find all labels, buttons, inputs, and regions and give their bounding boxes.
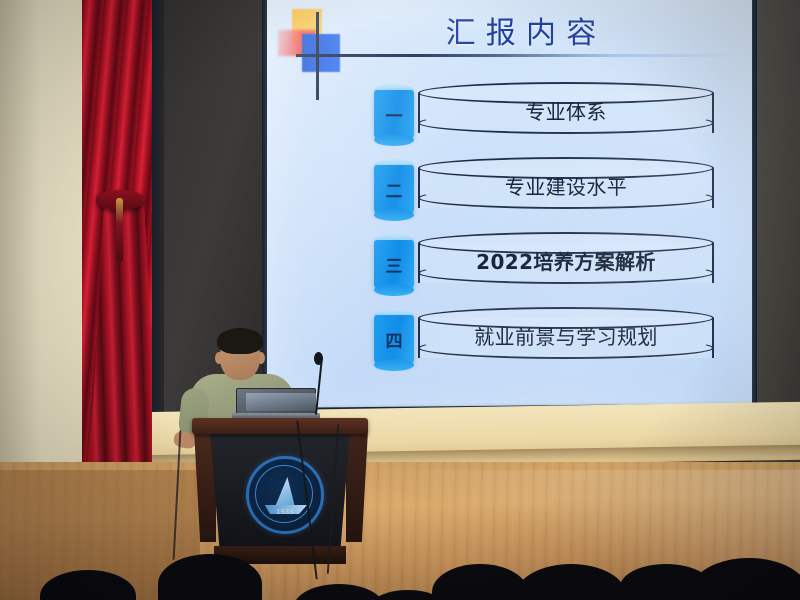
number-label-3: 三 xyxy=(374,252,414,277)
number-cylinder-3: 三 xyxy=(374,234,414,296)
emblem-year: 1933 xyxy=(249,509,321,516)
cylinder-bottom xyxy=(374,359,414,371)
item-label-4: 就业前景与学习规划 xyxy=(418,321,714,350)
right-wall xyxy=(752,0,800,470)
item-bar-2: 专业建设水平 xyxy=(418,157,714,219)
item-bar-4: 就业前景与学习规划 xyxy=(418,307,714,369)
podium-top xyxy=(192,418,368,434)
slide-item-list: 一 专业体系 二 xyxy=(374,78,714,378)
item-label-3: 2022培养方案解析 xyxy=(418,246,714,275)
number-cylinder-1: 一 xyxy=(374,84,414,146)
list-item: 二 专业建设水平 xyxy=(374,153,714,228)
laptop-icon xyxy=(232,388,320,420)
laptop-screen xyxy=(246,393,316,411)
horizontal-rule xyxy=(296,54,736,57)
laptop-lid xyxy=(236,388,316,414)
list-item: 三 2022培养方案解析 xyxy=(374,228,714,303)
number-label-4: 四 xyxy=(374,327,414,352)
curtain-tassel xyxy=(116,198,123,262)
slide-content: 汇报内容 一 专业体系 xyxy=(266,0,756,420)
left-wall-shadow xyxy=(0,0,40,470)
cylinder-bottom xyxy=(374,134,414,146)
presenter-hair xyxy=(217,328,263,354)
number-label-2: 二 xyxy=(374,177,414,202)
screen-right-frame xyxy=(752,0,757,412)
list-item: 一 专业体系 xyxy=(374,78,714,153)
dark-wall-panel-edge xyxy=(152,0,164,430)
number-cylinder-2: 二 xyxy=(374,159,414,221)
university-emblem: 1933 xyxy=(246,456,324,534)
cylinder-bottom xyxy=(374,209,414,221)
item-label-1: 专业体系 xyxy=(418,96,714,125)
slide-title: 汇报内容 xyxy=(266,8,756,52)
item-bar-3: 2022培养方案解析 xyxy=(418,232,714,294)
item-bar-1: 专业体系 xyxy=(418,82,714,144)
microphone-head xyxy=(314,352,323,365)
list-item: 四 就业前景与学习规划 xyxy=(374,303,714,378)
item-label-2: 专业建设水平 xyxy=(418,171,714,200)
cylinder-bottom xyxy=(374,284,414,296)
auditorium-scene: 汇报内容 一 专业体系 xyxy=(0,0,800,600)
projection-screen: 汇报内容 一 专业体系 xyxy=(266,0,756,420)
number-label-1: 一 xyxy=(374,102,414,127)
number-cylinder-4: 四 xyxy=(374,309,414,371)
podium: 1933 xyxy=(196,418,364,566)
